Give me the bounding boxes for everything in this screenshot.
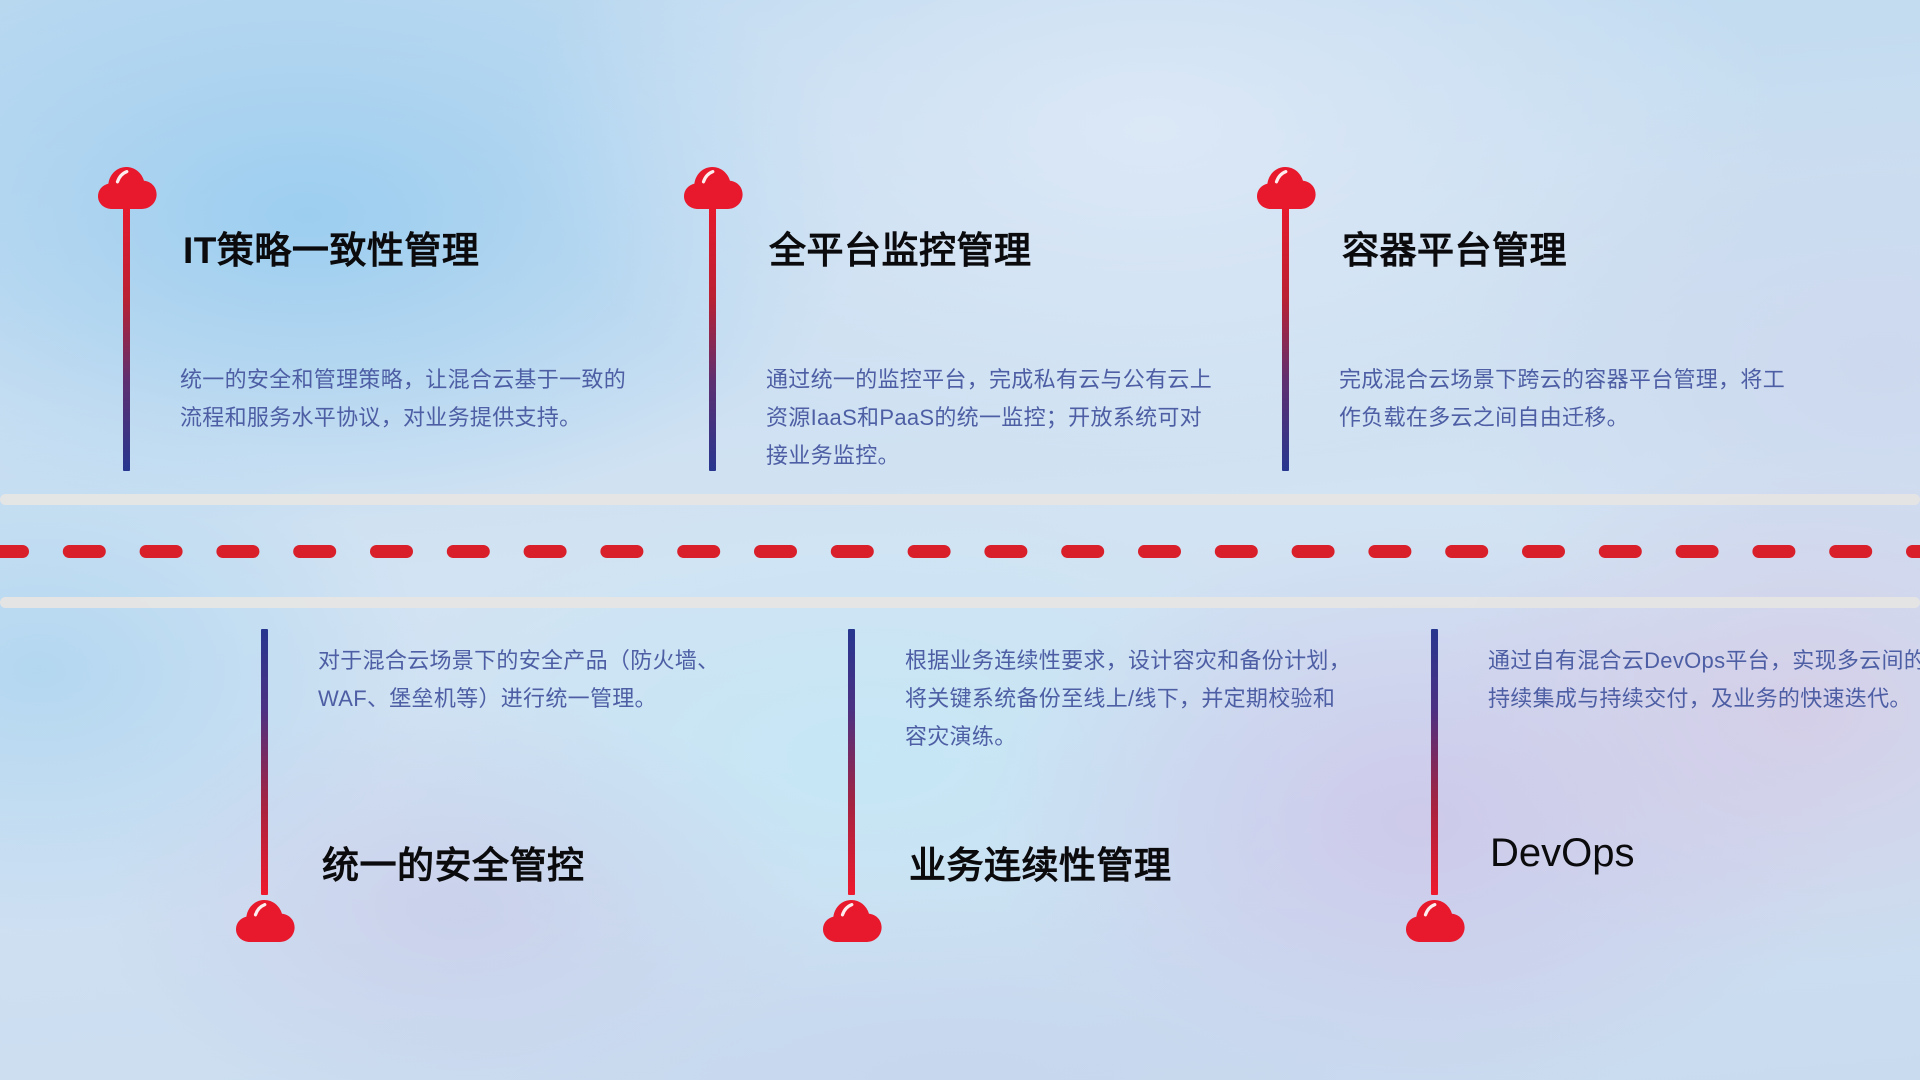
cloud-icon: [234, 895, 296, 943]
top-column-1-body: 统一的安全和管理策略，让混合云基于一致的流程和服务水平协议，对业务提供支持。: [180, 361, 632, 437]
cloud-icon: [1404, 895, 1466, 943]
top-column-3-body: 完成混合云场景下跨云的容器平台管理，将工作负载在多云之间自由迁移。: [1339, 361, 1791, 437]
road-edge-bottom: [0, 597, 1920, 608]
bottom-column-3-title: DevOps: [1490, 831, 1635, 876]
connector-stem: [709, 206, 716, 471]
top-column-3-title: 容器平台管理: [1342, 220, 1567, 274]
infographic-canvas: IT策略一致性管理 统一的安全和管理策略，让混合云基于一致的流程和服务水平协议，…: [0, 0, 1920, 1080]
connector-stem: [848, 629, 855, 895]
cloud-icon: [682, 162, 744, 210]
road-edge-top: [0, 494, 1920, 505]
cloud-icon: [96, 162, 158, 210]
bottom-column-2-title: 业务连续性管理: [909, 835, 1172, 889]
bottom-column-3-body: 通过自有混合云DevOps平台，实现多云间的持续集成与持续交付，及业务的快速迭代…: [1488, 642, 1920, 718]
connector-stem: [1431, 629, 1438, 895]
bottom-column-1-body: 对于混合云场景下的安全产品（防火墙、WAF、堡垒机等）进行统一管理。: [318, 642, 770, 718]
bottom-column-2-body: 根据业务连续性要求，设计容灾和备份计划，将关键系统备份至线上/线下，并定期校验和…: [905, 642, 1357, 756]
bottom-column-1-title: 统一的安全管控: [322, 835, 585, 889]
connector-stem: [261, 629, 268, 895]
top-column-2-title: 全平台监控管理: [769, 220, 1032, 274]
cloud-icon: [821, 895, 883, 943]
road-center-dashes: [0, 545, 1920, 558]
top-column-2-body: 通过统一的监控平台，完成私有云与公有云上资源IaaS和PaaS的统一监控；开放系…: [766, 361, 1218, 475]
top-column-1-title: IT策略一致性管理: [183, 220, 479, 274]
connector-stem: [1282, 206, 1289, 471]
cloud-icon: [1255, 162, 1317, 210]
connector-stem: [123, 206, 130, 471]
